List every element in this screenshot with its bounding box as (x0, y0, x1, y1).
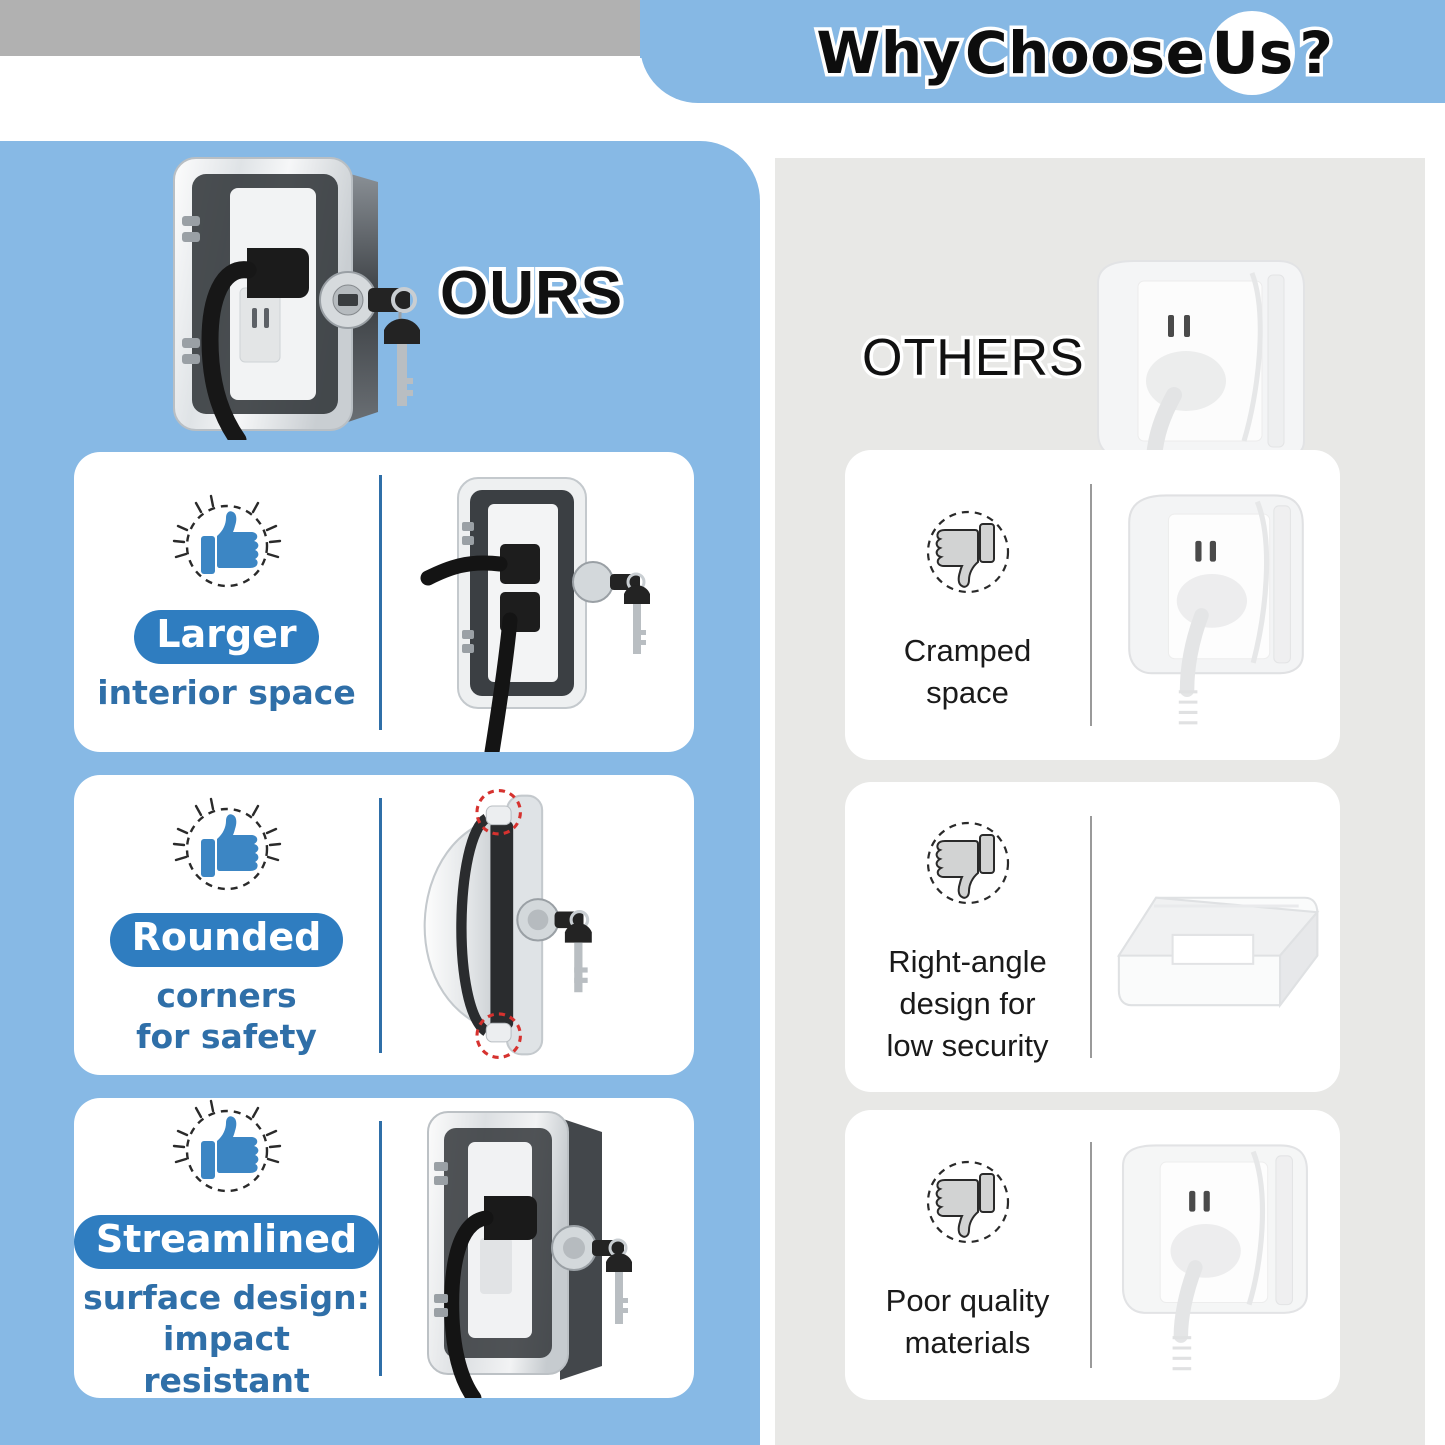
title-choose: Choose (965, 19, 1205, 87)
card-text-block: Larger interior space (74, 452, 379, 752)
text-line: design for (887, 983, 1049, 1025)
sub-line: surface design: (80, 1277, 373, 1318)
text-line: low security (887, 1025, 1049, 1067)
feature-pill: Rounded (110, 913, 344, 967)
card-text-block: Cramped space (845, 450, 1090, 760)
title-question: ? (1299, 19, 1333, 87)
text-line: space (904, 672, 1032, 714)
title-why: Why (816, 19, 961, 87)
sub-line: interior space (97, 672, 355, 713)
title-us-badge: Us (1209, 11, 1295, 95)
thumbs-up-icon (171, 490, 283, 602)
title-us-text: Us (1212, 19, 1294, 87)
others-text: Right-angle design for low security (887, 941, 1049, 1067)
others-image-3 (1092, 1110, 1340, 1400)
others-label: OTHERS (862, 328, 1085, 388)
thumbs-up-icon (171, 793, 283, 905)
others-card-1[interactable]: Cramped space (845, 450, 1340, 760)
sub-line: for safety (136, 1016, 317, 1057)
feature-sub: interior space (97, 672, 355, 713)
card-text-block: Right-angle design for low security (845, 782, 1090, 1092)
thumbs-up-icon (171, 1095, 283, 1207)
feature-image-1 (382, 452, 694, 752)
card-text-block: Streamlined surface design: impact resis… (74, 1098, 379, 1398)
text-line: Right-angle (887, 941, 1049, 983)
sub-line: corners (136, 975, 317, 1016)
card-text-block: Rounded corners for safety (74, 775, 379, 1075)
feature-image-2 (382, 775, 694, 1075)
feature-pill: Streamlined (74, 1215, 379, 1269)
ours-feature-card-1[interactable]: Larger interior space (74, 452, 694, 752)
page-title: Why Choose Us ? (745, 12, 1405, 94)
thumbs-down-icon (912, 807, 1024, 919)
ours-label: OURS (440, 258, 623, 329)
text-line: materials (886, 1322, 1050, 1364)
feature-pill: Larger (134, 610, 318, 664)
others-text: Cramped space (904, 630, 1032, 714)
feature-sub: surface design: impact resistant (80, 1277, 373, 1401)
others-image-1 (1092, 450, 1340, 760)
text-line: Poor quality (886, 1280, 1050, 1322)
others-card-3[interactable]: Poor quality materials (845, 1110, 1340, 1400)
ours-feature-card-2[interactable]: Rounded corners for safety (74, 775, 694, 1075)
others-text: Poor quality materials (886, 1280, 1050, 1364)
thumbs-down-icon (912, 496, 1024, 608)
feature-sub: corners for safety (136, 975, 317, 1058)
ours-hero-image (152, 140, 452, 440)
ours-feature-card-3[interactable]: Streamlined surface design: impact resis… (74, 1098, 694, 1398)
thumbs-down-icon (912, 1146, 1024, 1258)
others-hero-image (1082, 245, 1332, 485)
card-text-block: Poor quality materials (845, 1110, 1090, 1400)
sub-line: impact resistant (80, 1318, 373, 1401)
top-left-gray-bar (0, 0, 640, 56)
others-image-2 (1092, 782, 1340, 1092)
text-line: Cramped (904, 630, 1032, 672)
others-card-2[interactable]: Right-angle design for low security (845, 782, 1340, 1092)
feature-image-3 (382, 1098, 694, 1398)
